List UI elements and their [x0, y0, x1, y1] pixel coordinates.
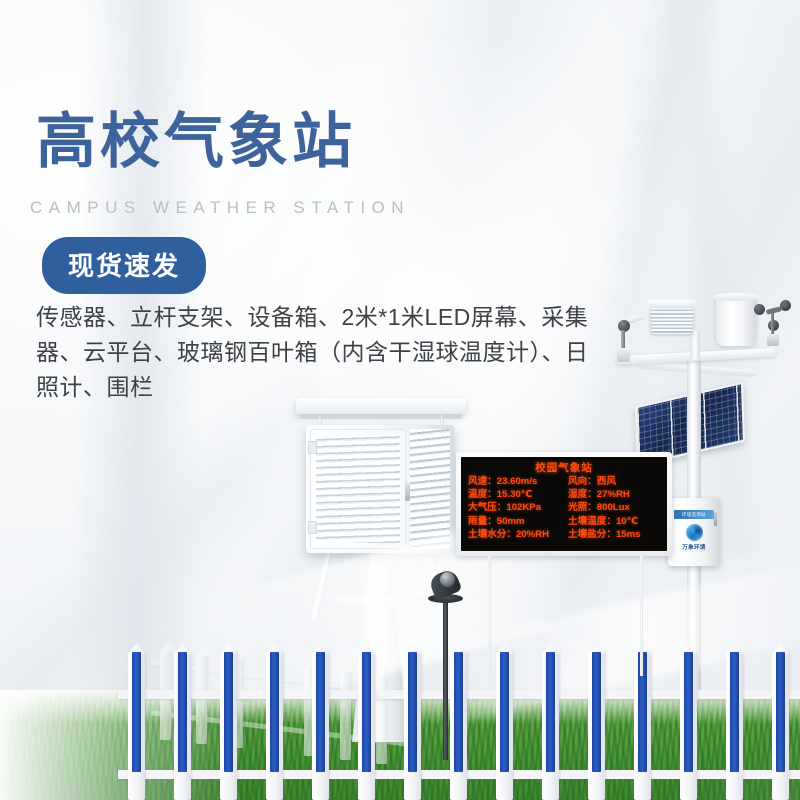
led-label: 大气压：	[468, 502, 506, 513]
led-cell-left: 土壤水分：20%RH	[468, 528, 568, 541]
led-label: 风向：	[568, 476, 597, 487]
led-cell-right: 湿度：27%RH	[568, 488, 630, 501]
led-value: 23.60m/s	[497, 476, 538, 487]
led-cell-left: 雨量：50mm	[468, 515, 568, 528]
pyranometer-lens	[440, 572, 455, 587]
page-subtitle: CAMPUS WEATHER STATION	[30, 198, 410, 218]
led-value: 10℃	[616, 516, 638, 527]
fence-stripe	[592, 652, 601, 772]
led-label: 土壤盐分：	[568, 529, 616, 540]
fence-picket	[772, 652, 789, 800]
led-label: 风速：	[468, 476, 497, 487]
led-label: 土壤水分：	[468, 529, 516, 540]
product-banner: 高校气象站 CAMPUS WEATHER STATION 现货速发 传感器、立杆…	[0, 0, 800, 800]
product-description: 传感器、立杆支架、设备箱、2米*1米LED屏幕、采集器、云平台、玻璃钢百叶箱（内…	[36, 300, 596, 405]
led-cell-left: 大气压：102KPa	[468, 501, 568, 514]
pyranometer-pole	[443, 600, 448, 760]
led-board-leg	[640, 556, 643, 676]
fence-stripe	[684, 652, 693, 772]
led-label: 雨量：	[468, 516, 497, 527]
led-display-frame: 校园气象站 风速：23.60m/s 风向：西风 温度：15.30℃	[456, 452, 672, 556]
led-row: 雨量：50mm 土壤温度：10℃	[468, 515, 660, 528]
led-row: 大气压：102KPa 光照：800Lux	[468, 501, 660, 514]
led-row: 温度：15.30℃ 湿度：27%RH	[468, 488, 660, 501]
led-value: 20%RH	[516, 529, 549, 540]
led-cell-left: 温度：15.30℃	[468, 488, 568, 501]
fence-picket	[404, 652, 421, 800]
fence-picket	[358, 652, 375, 800]
fence-stripe	[316, 652, 325, 772]
led-value: 15ms	[616, 529, 641, 540]
led-value: 西风	[597, 476, 616, 487]
led-label: 光照：	[568, 502, 597, 513]
led-cell-right: 风向：西风	[568, 475, 616, 488]
fence-picket	[174, 652, 191, 800]
led-row: 土壤水分：20%RH 土壤盐分：15ms	[468, 528, 660, 541]
fence-picket	[266, 652, 283, 800]
led-cell-right: 土壤温度：10℃	[568, 515, 638, 528]
fence-picket	[542, 652, 559, 800]
fence-picket	[312, 652, 329, 800]
led-cell-right: 土壤盐分：15ms	[568, 528, 641, 541]
led-value: 15.30℃	[497, 489, 533, 500]
led-row: 风速：23.60m/s 风向：西风	[468, 475, 660, 488]
fence-picket	[496, 652, 513, 800]
fence-picket	[220, 652, 237, 800]
fence-stripe	[270, 652, 279, 772]
led-value: 800Lux	[597, 502, 630, 513]
led-display-screen: 校园气象站 风速：23.60m/s 风向：西风 温度：15.30℃	[461, 457, 667, 551]
fence-picket	[726, 652, 743, 800]
fence-stripe	[776, 652, 785, 772]
fence-picket	[680, 652, 697, 800]
fence-picket	[588, 652, 605, 800]
led-cell-right: 光照：800Lux	[568, 501, 630, 514]
led-rows: 风速：23.60m/s 风向：西风 温度：15.30℃ 湿度：27%RH	[468, 475, 660, 541]
fence-stripe	[408, 652, 417, 772]
led-board-leg	[488, 556, 491, 676]
led-label: 土壤温度：	[568, 516, 616, 527]
fence-stripe	[454, 652, 463, 772]
led-label: 湿度：	[568, 489, 597, 500]
led-value: 102KPa	[506, 502, 541, 513]
status-badge: 现货速发	[42, 237, 206, 294]
fence-stripe	[546, 652, 555, 772]
fence-stripe	[730, 652, 739, 772]
led-label: 温度：	[468, 489, 497, 500]
fence-stripe	[362, 652, 371, 772]
led-title: 校园气象站	[468, 462, 660, 474]
page-title: 高校气象站	[36, 112, 356, 172]
fence-picket	[450, 652, 467, 800]
fence-picket	[128, 652, 145, 800]
led-cell-left: 风速：23.60m/s	[468, 475, 568, 488]
led-value: 27%RH	[597, 489, 630, 500]
fence-stripe	[178, 652, 187, 772]
fence-stripe	[224, 652, 233, 772]
led-display-board: 校园气象站 风速：23.60m/s 风向：西风 温度：15.30℃	[456, 452, 672, 556]
led-value: 50mm	[497, 516, 525, 527]
fence-stripe	[132, 652, 141, 772]
fence-stripe	[500, 652, 509, 772]
